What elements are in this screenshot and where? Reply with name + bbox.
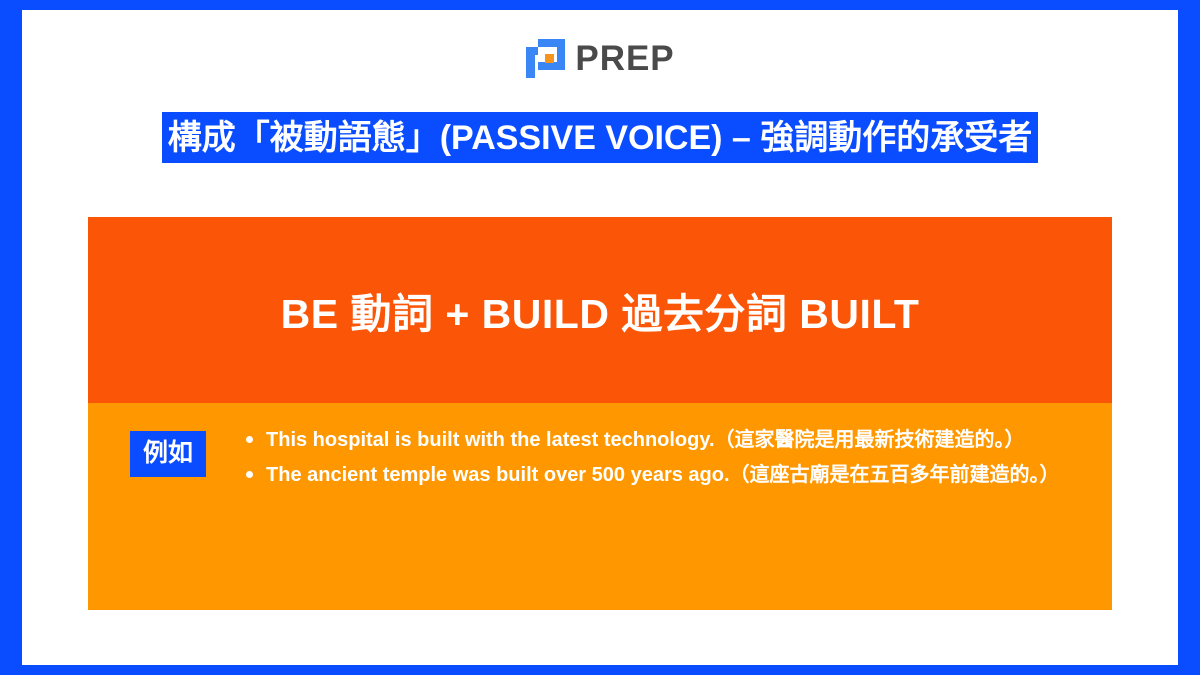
prep-logo-icon [525,38,566,79]
examples-panel: 例如 This hospital is built with the lates… [88,403,1112,610]
outer-blue-frame: PREP PREP 構成「被動語態」(PASSIVE VOICE) – 強調動作… [0,0,1200,675]
bullet-icon [246,471,253,478]
brand-header: PREP [22,38,1178,79]
slide-canvas: PREP PREP 構成「被動語態」(PASSIVE VOICE) – 強調動作… [22,10,1178,665]
examples-list: This hospital is built with the latest t… [246,425,1090,495]
list-item: The ancient temple was built over 500 ye… [246,460,1090,490]
formula-text: BE 動詞 + BUILD 過去分詞 BUILT [281,280,920,340]
slide-title: 構成「被動語態」(PASSIVE VOICE) – 強調動作的承受者 [58,113,1142,163]
lesson-card: BE 動詞 + BUILD 過去分詞 BUILT 例如 This hospita… [88,217,1112,610]
logo-dot-shape [545,54,554,63]
example-sentence: This hospital is built with the latest t… [266,429,1025,451]
brand-wordmark: PREP [575,41,674,76]
bullet-icon [246,436,253,443]
slide-title-text: 構成「被動語態」(PASSIVE VOICE) – 強調動作的承受者 [162,112,1039,163]
example-sentence: The ancient temple was built over 500 ye… [266,464,1060,486]
formula-banner: BE 動詞 + BUILD 過去分詞 BUILT [88,217,1112,403]
list-item: This hospital is built with the latest t… [246,425,1090,455]
example-badge: 例如 [130,431,206,477]
